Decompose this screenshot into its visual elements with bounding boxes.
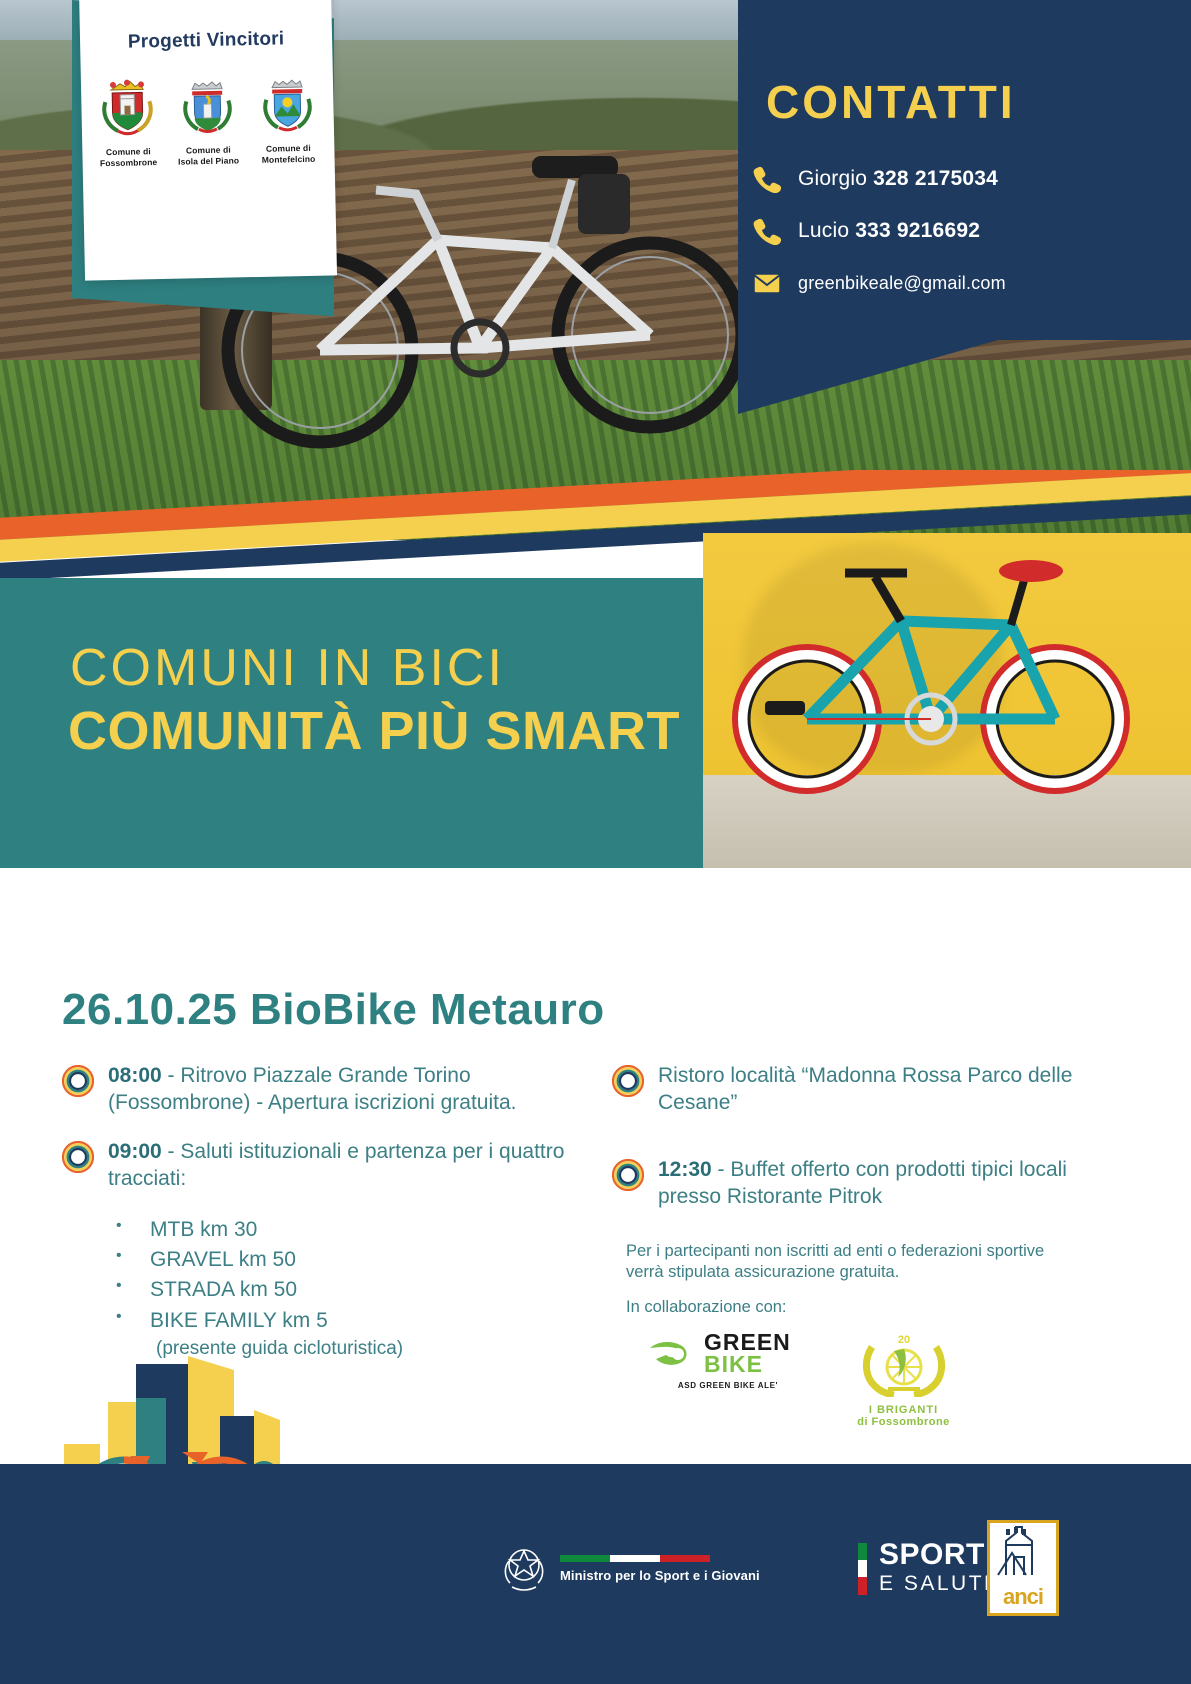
- track-item: GRAVEL km 50: [110, 1245, 607, 1275]
- insurance-note: Per i partecipanti non iscritti ad enti …: [626, 1241, 1082, 1285]
- sponsor-list: GREEN BIKE ASD GREEN BIKE ALE' 20 I BRIG…: [648, 1331, 1082, 1428]
- sponsor-green-bike: GREEN BIKE ASD GREEN BIKE ALE': [648, 1331, 808, 1390]
- crest-fossombrone-icon: [95, 75, 160, 138]
- svg-text:20: 20: [897, 1334, 909, 1346]
- green-bike-word-1: GREEN: [704, 1331, 791, 1353]
- mail-icon: [752, 269, 782, 297]
- crest-montefelcino-icon: [255, 72, 320, 135]
- schedule-time: 12:30: [658, 1158, 712, 1181]
- card-title: Progetti Vincitori: [90, 28, 322, 55]
- collaboration-label: In collaborazione con:: [626, 1298, 1082, 1317]
- italian-republic-emblem-icon: [500, 1539, 548, 1595]
- ring-bullet-icon: [612, 1065, 644, 1097]
- contact-text: Lucio 333 9216692: [798, 219, 980, 243]
- schedule-item-0800: 08:00 - Ritrovo Piazzale Grande Torino (…: [62, 1063, 607, 1117]
- sport-tricolor-bar: [858, 1543, 867, 1595]
- event-date: 26.10.25: [62, 985, 237, 1034]
- poster-root: Progetti Vincitori: [0, 0, 1191, 1684]
- schedule-text: 08:00 - Ritrovo Piazzale Grande Torino (…: [108, 1063, 607, 1117]
- sport-line-2: E SALUTE: [879, 1570, 1001, 1597]
- crest-label: Comune di Isola del Piano: [174, 144, 242, 167]
- sponsor-briganti: 20 I BRIGANTI di Fossombrone: [846, 1331, 961, 1428]
- schedule-text: Ristoro località “Madonna Rossa Parco de…: [658, 1063, 1082, 1117]
- schedule-item-1230: 12:30 - Buffet offerto con prodotti tipi…: [612, 1157, 1082, 1211]
- schedule-item-ristoro: Ristoro località “Madonna Rossa Parco de…: [612, 1063, 1082, 1117]
- schedule-text: 12:30 - Buffet offerto con prodotti tipi…: [658, 1157, 1082, 1211]
- crest-item: Comune di Fossombrone: [93, 75, 163, 169]
- green-bike-logo-icon: [648, 1338, 696, 1368]
- city-bike-icon: [725, 551, 1175, 801]
- event-heading: 26.10.25 BioBike Metauro: [62, 985, 605, 1035]
- crest-label: Comune di Fossombrone: [94, 146, 162, 169]
- contact-row-email[interactable]: greenbikeale@gmail.com: [752, 269, 1172, 297]
- briganti-line-2: di Fossombrone: [846, 1416, 961, 1428]
- briganti-laurel-icon: 20: [858, 1331, 950, 1397]
- footer-sport-salute-logo: SPORT E SALUTE: [858, 1540, 1001, 1597]
- banner-line-1: COMUNI IN BICI: [70, 638, 505, 698]
- crest-item: Comune di Isola del Piano: [173, 73, 243, 167]
- ring-bullet-icon: [612, 1159, 644, 1191]
- schedule-text: 09:00 - Saluti istituzionali e partenza …: [108, 1139, 607, 1193]
- footer-anci-logo: anci: [987, 1520, 1059, 1616]
- sport-line-1: SPORT: [879, 1540, 1001, 1570]
- ministry-label: Ministro per lo Sport e i Giovani: [560, 1568, 760, 1583]
- briganti-line-1: I BRIGANTI: [846, 1404, 961, 1416]
- contacts-title: CONTATTI: [766, 75, 1016, 129]
- track-list: MTB km 30 GRAVEL km 50 STRADA km 50 BIKE…: [110, 1215, 607, 1337]
- event-name: BioBike Metauro: [250, 985, 605, 1034]
- anci-wordmark: anci: [990, 1586, 1056, 1608]
- contact-row-lucio[interactable]: Lucio 333 9216692: [752, 217, 1172, 245]
- crest-list: Comune di Fossombrone: [91, 72, 325, 169]
- schedule-item-0900: 09:00 - Saluti istituzionali e partenza …: [62, 1139, 607, 1193]
- tricolor-bar: [560, 1555, 710, 1562]
- schedule-time: 08:00: [108, 1064, 162, 1087]
- ring-bullet-icon: [62, 1065, 94, 1097]
- ring-bullet-icon: [62, 1141, 94, 1173]
- green-bike-word-2: BIKE: [704, 1353, 791, 1375]
- schedule-column-right: Ristoro località “Madonna Rossa Parco de…: [612, 1063, 1082, 1428]
- track-item: MTB km 30: [110, 1215, 607, 1245]
- track-item: STRADA km 50: [110, 1275, 607, 1305]
- contacts-notch: [738, 340, 998, 414]
- winners-card: Progetti Vincitori: [79, 0, 337, 281]
- crest-isola-del-piano-icon: [175, 73, 240, 136]
- yellow-wall-bike-photo: [703, 533, 1191, 868]
- phone-icon: [752, 217, 782, 245]
- schedule-desc: Ristoro località “Madonna Rossa Parco de…: [658, 1064, 1072, 1114]
- contact-email-text: greenbikeale@gmail.com: [798, 273, 1006, 294]
- contact-text: Giorgio 328 2175034: [798, 167, 998, 191]
- phone-icon: [752, 165, 782, 193]
- schedule-time: 09:00: [108, 1140, 162, 1163]
- banner-line-2: COMUNITÀ PIÙ SMART: [68, 700, 680, 762]
- green-bike-subtitle: ASD GREEN BIKE ALE': [648, 1381, 808, 1390]
- contacts-list: Giorgio 328 2175034 Lucio 333 9216692 gr…: [752, 165, 1172, 321]
- anci-tower-icon: [990, 1523, 1056, 1581]
- footer-ministry-logo: Ministro per lo Sport e i Giovani: [500, 1539, 760, 1595]
- crest-label: Comune di Montefelcino: [254, 143, 322, 166]
- schedule-column-left: 08:00 - Ritrovo Piazzale Grande Torino (…: [62, 1063, 607, 1360]
- contact-row-giorgio[interactable]: Giorgio 328 2175034: [752, 165, 1172, 193]
- track-item: BIKE FAMILY km 5: [110, 1306, 607, 1336]
- crest-item: Comune di Montefelcino: [253, 72, 323, 166]
